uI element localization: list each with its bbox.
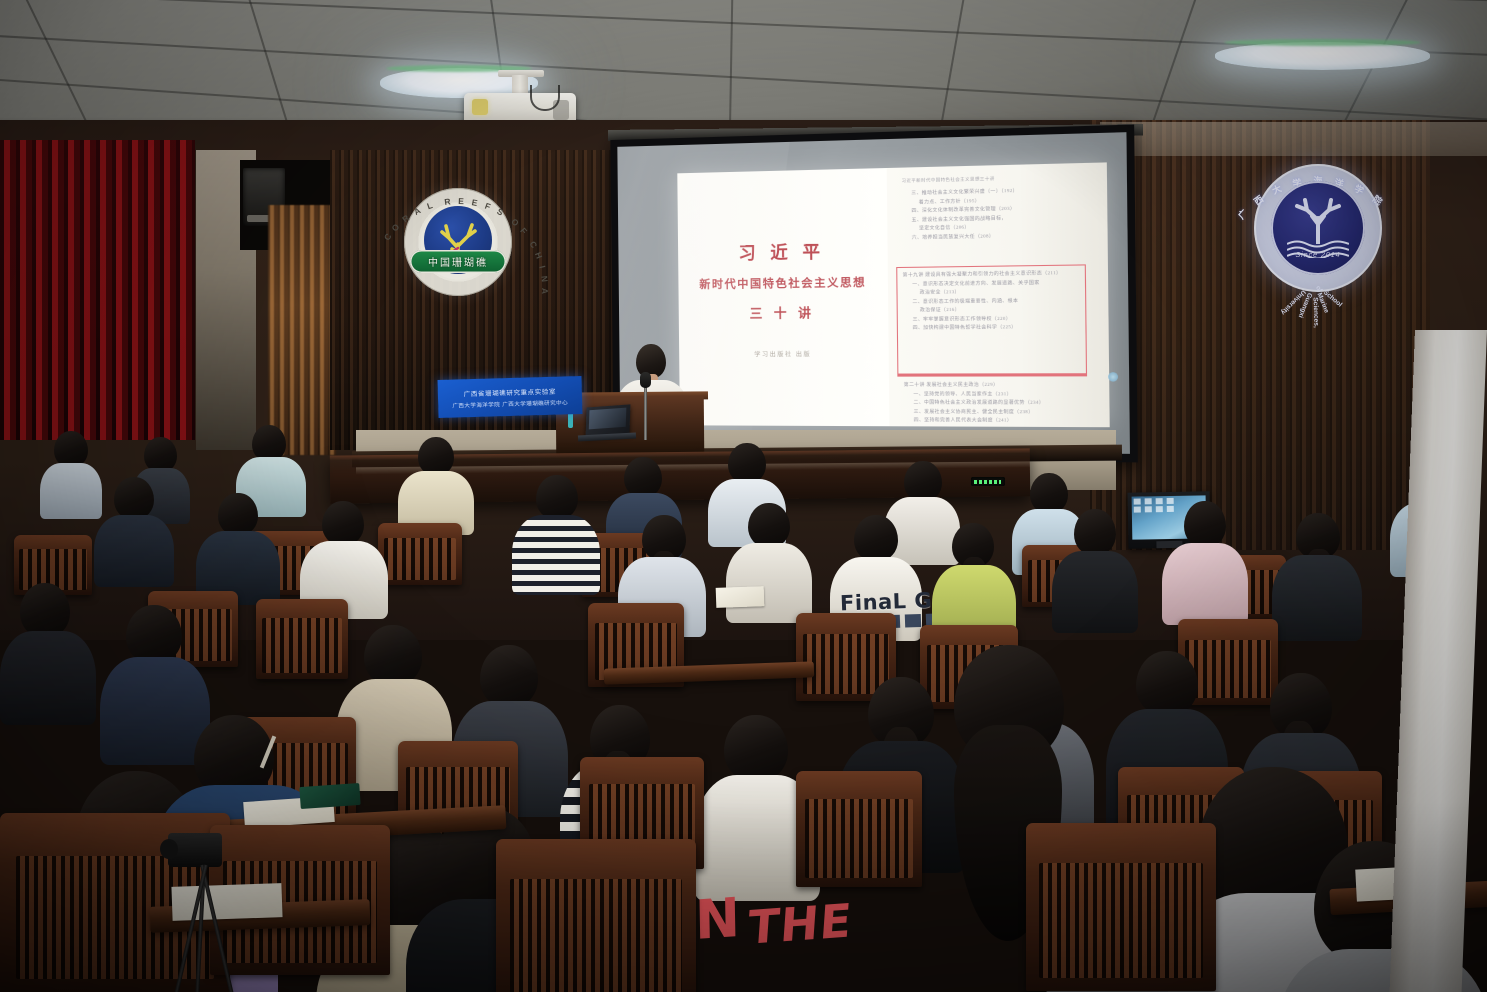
torso — [1052, 551, 1138, 633]
head — [728, 443, 766, 483]
torso — [94, 515, 174, 587]
head — [748, 503, 790, 547]
audience-seating: FinaL Game — [0, 415, 1487, 992]
audience-member — [40, 431, 102, 511]
audience-member — [1272, 513, 1362, 633]
head — [480, 645, 538, 707]
audience-member — [932, 523, 1016, 637]
head — [854, 515, 898, 561]
torso — [512, 515, 600, 595]
torso — [1162, 543, 1248, 625]
red-curtain — [0, 140, 195, 440]
head — [218, 493, 258, 535]
gxu-logo-since: Since 2014 — [1254, 252, 1382, 259]
toc-item: 第二十讲 发展社会主义民主政治（229） — [904, 381, 1087, 390]
audience-member — [1052, 509, 1138, 625]
slide-toc-page: 习近平新时代中国特色社会主义思想三十讲 三、推动社会主义文化繁荣兴盛（一）（19… — [887, 162, 1110, 427]
camera-tripod — [178, 833, 238, 992]
torso — [1272, 555, 1362, 641]
torso — [40, 463, 102, 519]
head — [418, 437, 454, 475]
head — [144, 437, 177, 472]
audience-member — [94, 477, 174, 577]
slide-publisher: 学习出版社 出版 — [754, 349, 811, 358]
head — [1136, 651, 1198, 715]
notepaper — [716, 586, 765, 608]
coral-reefs-logo: C O R A L R E E F S O F C H I N A 中国珊瑚礁 — [404, 188, 512, 296]
blue-led-sign: 广西省珊瑚礁研究重点实验室 广西大学海洋学院 广西大学珊瑚礁研究中心 — [437, 376, 582, 418]
toc-running-head: 习近平新时代中国特色社会主义思想三十讲 — [902, 173, 1094, 184]
blue-sign-line2: 广西大学海洋学院 广西大学珊瑚礁研究中心 — [452, 398, 568, 409]
projector-cable — [530, 85, 560, 111]
head — [54, 431, 88, 467]
toc-highlight-underline — [897, 374, 1087, 377]
torso — [0, 631, 96, 725]
screen-indicator-dot — [1108, 372, 1118, 382]
ceiling-light-right — [1215, 42, 1430, 70]
toc-item: 四、加快构建中国特色哲学社会科学（225） — [903, 323, 1084, 333]
audience-member — [196, 493, 280, 597]
tshirt-the-text: THE — [746, 893, 854, 955]
head — [1184, 501, 1226, 547]
beige-wall-upper — [1100, 122, 1487, 156]
blue-sign-line1: 广西省珊瑚礁研究重点实验室 — [464, 385, 557, 398]
head — [114, 477, 154, 519]
projector-lens — [472, 99, 488, 115]
chair — [378, 523, 462, 585]
head — [126, 605, 182, 663]
toc-boxed-group: 第十九讲 建设具有强大凝聚力和引领力的社会主义意识形态（211） 一、意识形态决… — [903, 269, 1085, 333]
green-notebook — [299, 783, 360, 809]
audience-member — [300, 501, 388, 611]
head — [20, 583, 70, 637]
coral-logo-band: 中国珊瑚礁 — [410, 250, 506, 273]
desk-microphone — [640, 372, 651, 388]
chair — [796, 771, 922, 887]
chair — [496, 839, 696, 992]
head — [1074, 509, 1116, 555]
head — [724, 715, 788, 781]
torso — [726, 543, 812, 623]
video-camera — [168, 833, 222, 867]
toc-item: 二、中国特色社会主义政治发展道路的显著优势（234） — [904, 398, 1087, 407]
head — [364, 625, 422, 685]
head — [1030, 473, 1068, 513]
head — [536, 475, 578, 519]
audience-member — [1162, 501, 1248, 617]
chair — [1026, 823, 1216, 991]
lecture-hall-photo: C O R A L R E E F S O F C H I N A 中国珊瑚礁 — [0, 0, 1487, 992]
toc-item: 一、坚持党的领导、人民当家作主（231） — [904, 390, 1087, 399]
audience-member — [0, 583, 96, 715]
guangxi-university-logo: 广 西 大 学 海 洋 学 院 School of Marine Science… — [1254, 164, 1382, 292]
head — [252, 425, 286, 461]
head — [322, 501, 364, 545]
head — [904, 461, 942, 501]
head — [624, 457, 662, 497]
gxu-emblem-icon — [1294, 198, 1342, 244]
audience-member — [398, 437, 474, 527]
chair — [256, 599, 348, 679]
audience-member — [512, 475, 600, 587]
